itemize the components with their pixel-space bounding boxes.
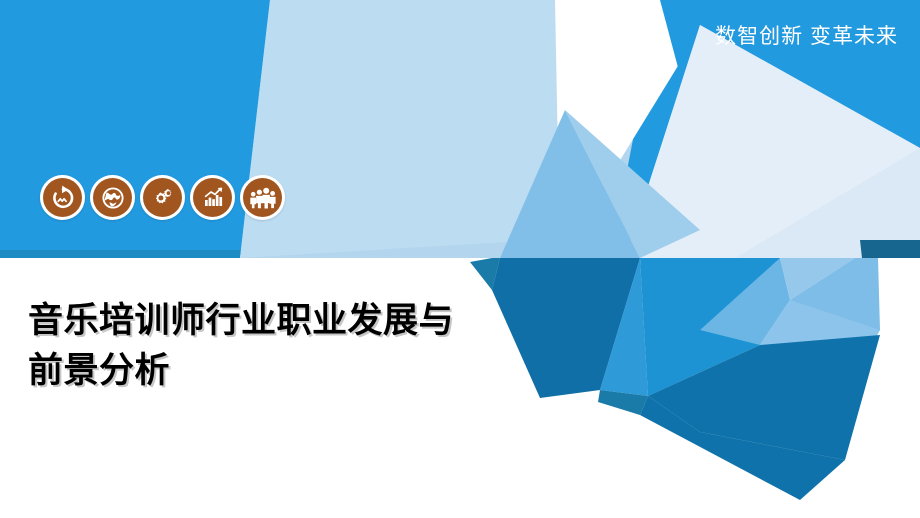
- poly-dark-nub: [860, 240, 920, 258]
- globe-icon: [93, 178, 132, 217]
- icon-badge-globe[interactable]: [90, 175, 135, 220]
- icon-strip: [40, 175, 285, 220]
- recycle-arrows-icon: [43, 178, 82, 217]
- page-title-line-1: 音乐培训师行业职业发展与: [28, 296, 548, 346]
- presentation-slide: 数智创新 变革未来: [0, 0, 920, 518]
- icon-badge-bar-chart[interactable]: [190, 175, 235, 220]
- page-title-line-2: 前景分析: [28, 346, 548, 396]
- icon-badge-recycle[interactable]: [40, 175, 85, 220]
- gears-icon: [143, 178, 182, 217]
- icon-badge-gears[interactable]: [140, 175, 185, 220]
- slide-tagline: 数智创新 变革未来: [715, 24, 898, 49]
- low-poly-background-art: [0, 0, 920, 518]
- page-title: 音乐培训师行业职业发展与 前景分析: [28, 296, 548, 397]
- people-group-icon: [243, 178, 282, 217]
- icon-badge-people[interactable]: [240, 175, 285, 220]
- bar-chart-growth-icon: [193, 178, 232, 217]
